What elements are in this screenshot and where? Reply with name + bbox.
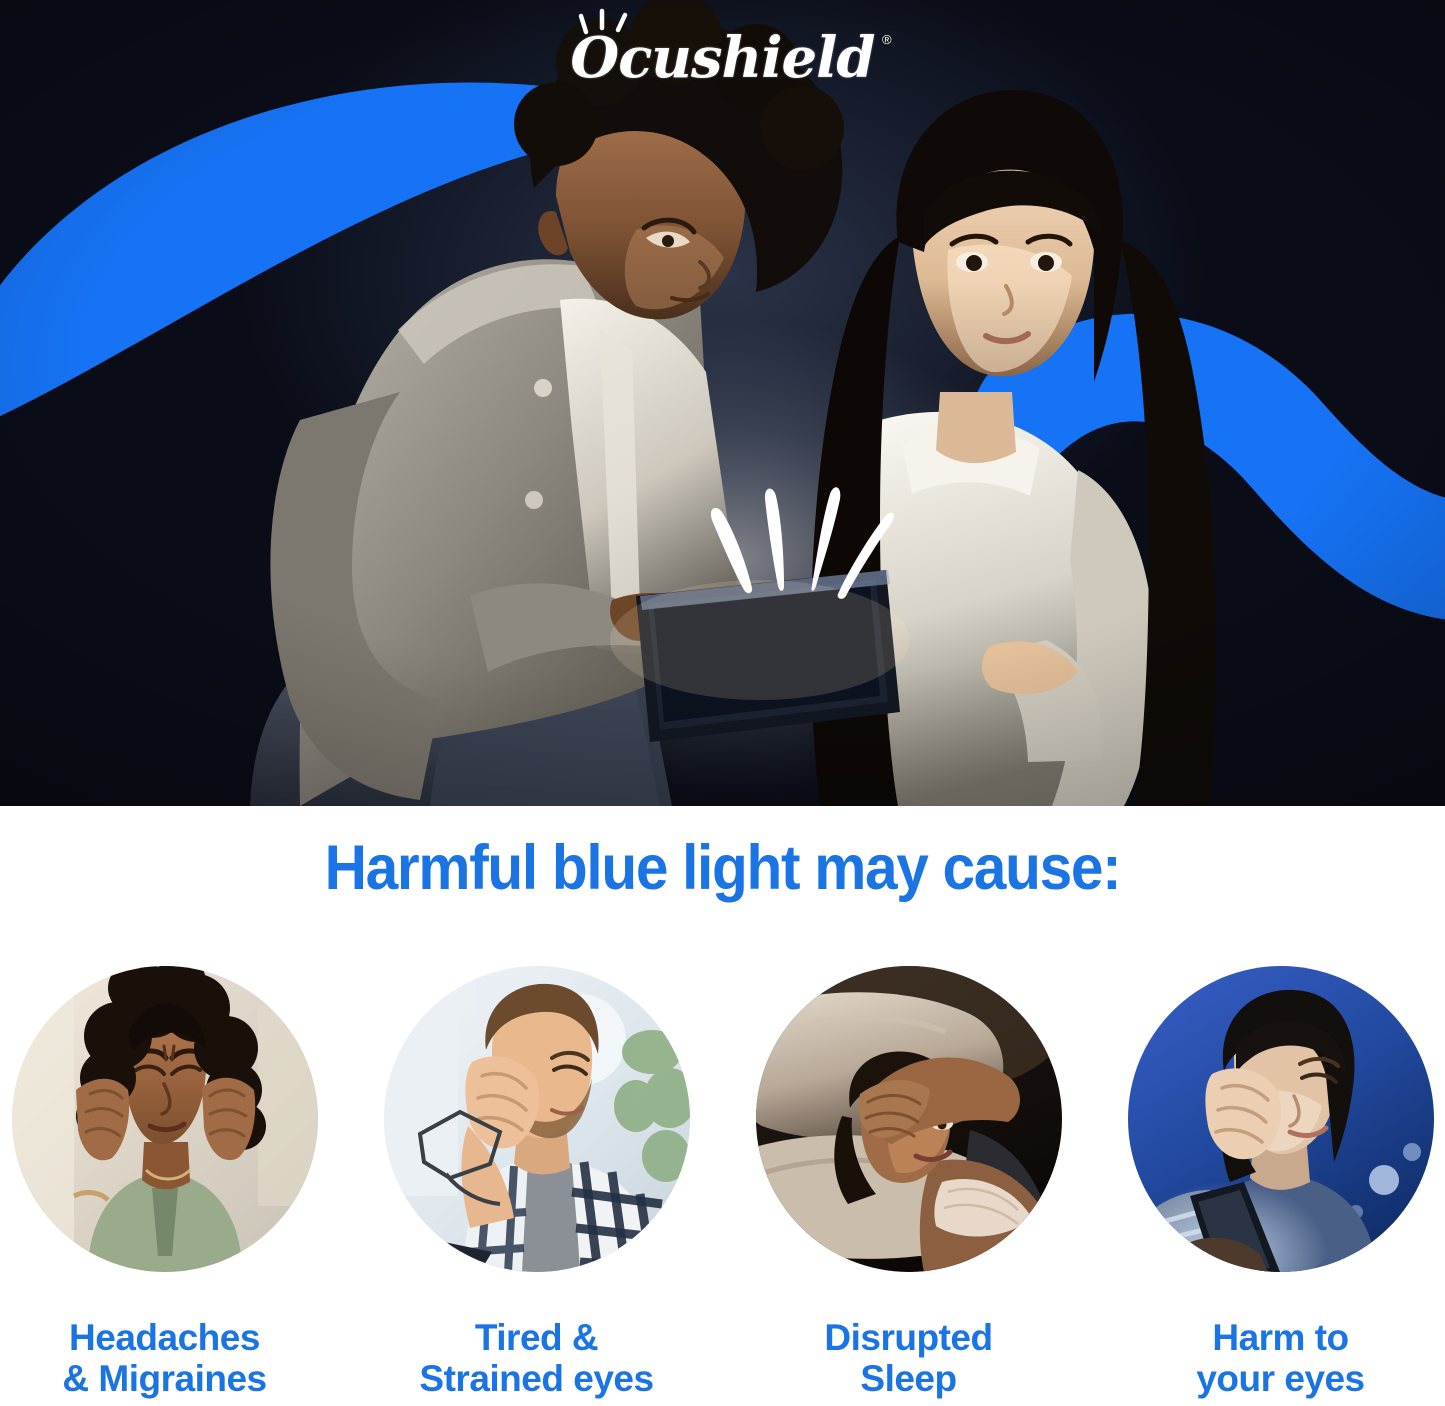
brand-logo: Ocushield ®	[0, 30, 1445, 86]
infographic-page: Ocushield ® Harmful blue light may cause…	[0, 0, 1445, 1406]
disrupted-sleep-photo-circle	[756, 966, 1062, 1272]
symptom-card-tired-eyes: Tired & Strained eyes	[384, 966, 690, 1400]
eye-harm-photo-circle	[1128, 966, 1434, 1272]
woman-with-headache-photo	[12, 966, 318, 1272]
symptom-caption: Harm to your eyes	[1196, 1317, 1364, 1400]
woman-awake-in-bed-photo	[756, 966, 1062, 1272]
symptoms-section: Harmful blue light may cause:	[0, 806, 1445, 1406]
headache-photo-circle	[12, 966, 318, 1272]
symptom-card-sleep: Disrupted Sleep	[756, 966, 1062, 1400]
symptom-card-headaches: Headaches & Migraines	[12, 966, 318, 1400]
symptom-caption: Disrupted Sleep	[824, 1317, 992, 1400]
symptom-caption: Tired & Strained eyes	[419, 1317, 653, 1400]
symptom-card-list: Headaches & Migraines	[0, 966, 1445, 1400]
tired-eyes-photo-circle	[384, 966, 690, 1272]
registered-trademark-icon: ®	[882, 32, 892, 47]
man-rubbing-eyes-photo	[384, 966, 690, 1272]
symptom-card-eye-harm: Harm to your eyes	[1128, 966, 1434, 1400]
woman-on-phone-at-night-photo	[1128, 966, 1434, 1272]
logo-sunburst-icon	[576, 6, 646, 36]
hero-section: Ocushield ®	[0, 0, 1445, 806]
page-title: Harmful blue light may cause:	[51, 832, 1395, 904]
symptom-caption: Headaches & Migraines	[62, 1317, 266, 1400]
hero-photo	[0, 0, 1445, 806]
